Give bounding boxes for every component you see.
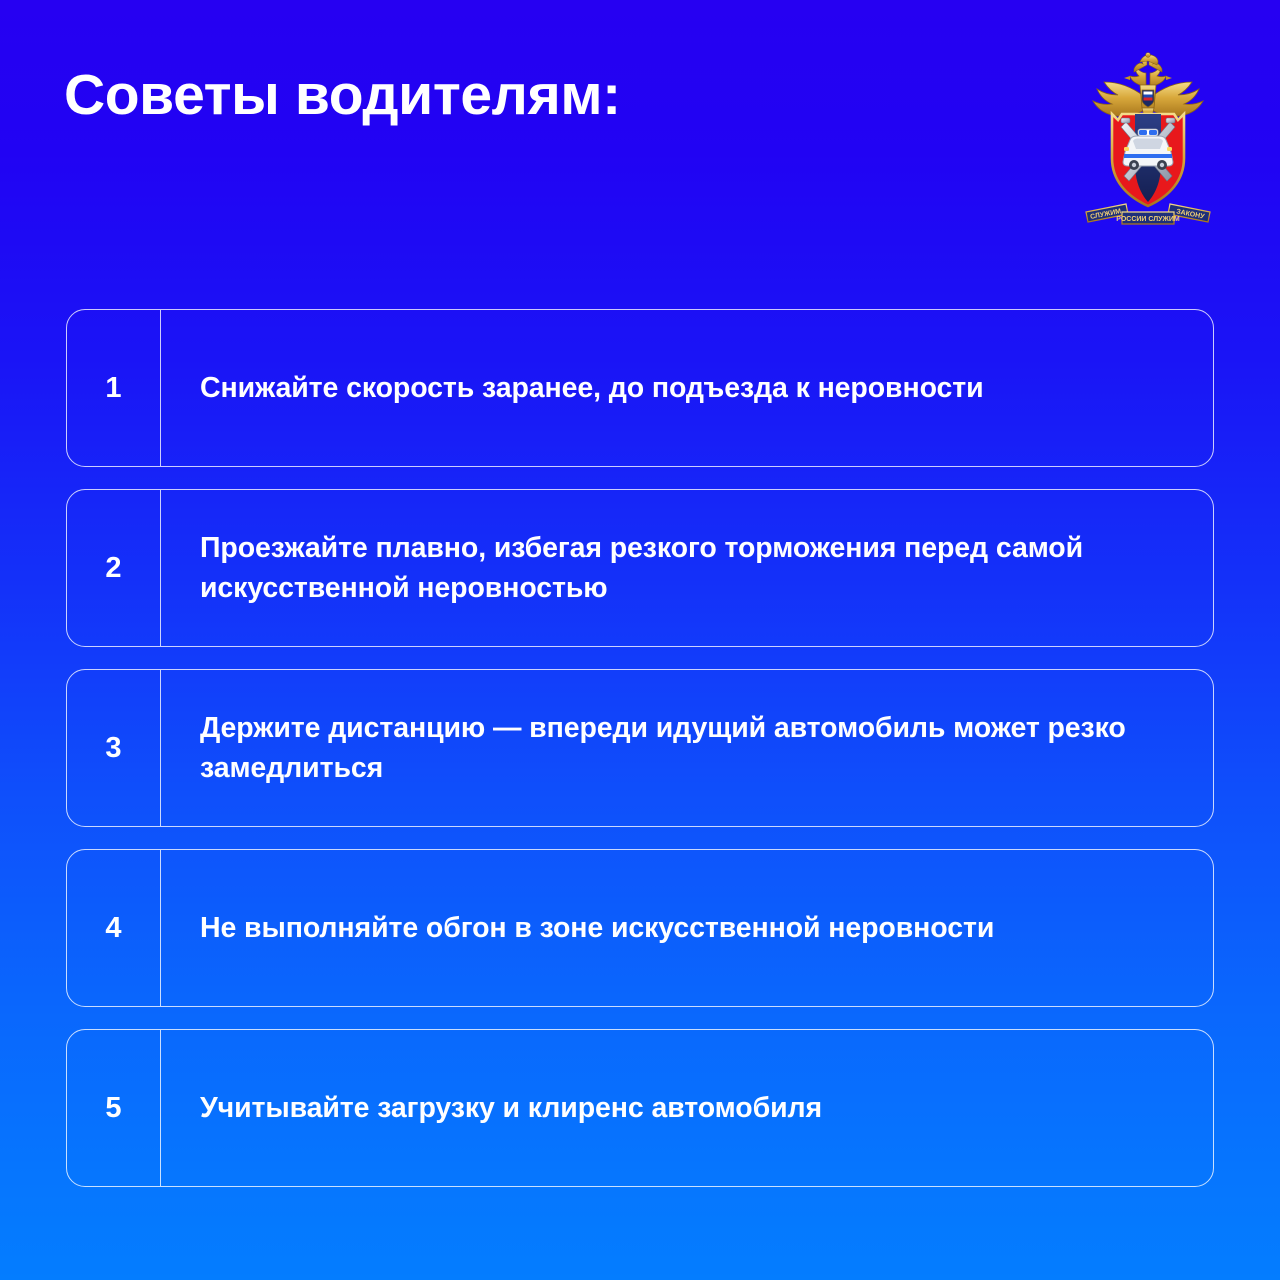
poster-root: Советы водителям: — [0, 0, 1280, 1280]
tip-number: 5 — [105, 1094, 121, 1123]
tip-text: Снижайте скорость заранее, до подъезда к… — [200, 368, 984, 408]
tip-number-cell-2: 2 — [67, 490, 161, 646]
poster-header: Советы водителям: — [0, 0, 1280, 300]
tip-text-cell-1: Снижайте скорость заранее, до подъезда к… — [161, 310, 1213, 466]
tip-number: 2 — [105, 554, 121, 583]
tip-number: 4 — [105, 914, 121, 943]
tip-card-1: 1 Снижайте скорость заранее, до подъезда… — [66, 309, 1214, 467]
tip-number: 3 — [105, 734, 121, 763]
tip-text-cell-4: Не выполняйте обгон в зоне искусственной… — [161, 850, 1213, 1006]
tip-number-cell-4: 4 — [67, 850, 161, 1006]
tip-text: Учитывайте загрузку и клиренс автомобиля — [200, 1088, 822, 1128]
tip-text: Не выполняйте обгон в зоне искусственной… — [200, 908, 994, 948]
tip-card-3: 3 Держите дистанцию — впереди идущий авт… — [66, 669, 1214, 827]
tip-text-cell-5: Учитывайте загрузку и клиренс автомобиля — [161, 1030, 1213, 1186]
tip-card-4: 4 Не выполняйте обгон в зоне искусственн… — [66, 849, 1214, 1007]
mvd-russia-emblem-icon: СЛУЖИМ РОССИИ СЛУЖИМ ЗАКОНУ — [1078, 52, 1218, 232]
tip-number-cell-1: 1 — [67, 310, 161, 466]
ribbon-text-center: РОССИИ СЛУЖИМ — [1116, 216, 1180, 223]
tip-card-5: 5 Учитывайте загрузку и клиренс автомоби… — [66, 1029, 1214, 1187]
tip-text: Проезжайте плавно, избегая резкого тормо… — [200, 528, 1175, 608]
tip-text-cell-2: Проезжайте плавно, избегая резкого тормо… — [161, 490, 1213, 646]
tip-number-cell-5: 5 — [67, 1030, 161, 1186]
tip-text: Держите дистанцию — впереди идущий автом… — [200, 708, 1175, 788]
tips-list: 1 Снижайте скорость заранее, до подъезда… — [66, 309, 1214, 1187]
page-title: Советы водителям: — [64, 62, 621, 128]
tip-number: 1 — [105, 374, 121, 403]
tip-card-2: 2 Проезжайте плавно, избегая резкого тор… — [66, 489, 1214, 647]
tip-number-cell-3: 3 — [67, 670, 161, 826]
tip-text-cell-3: Держите дистанцию — впереди идущий автом… — [161, 670, 1213, 826]
